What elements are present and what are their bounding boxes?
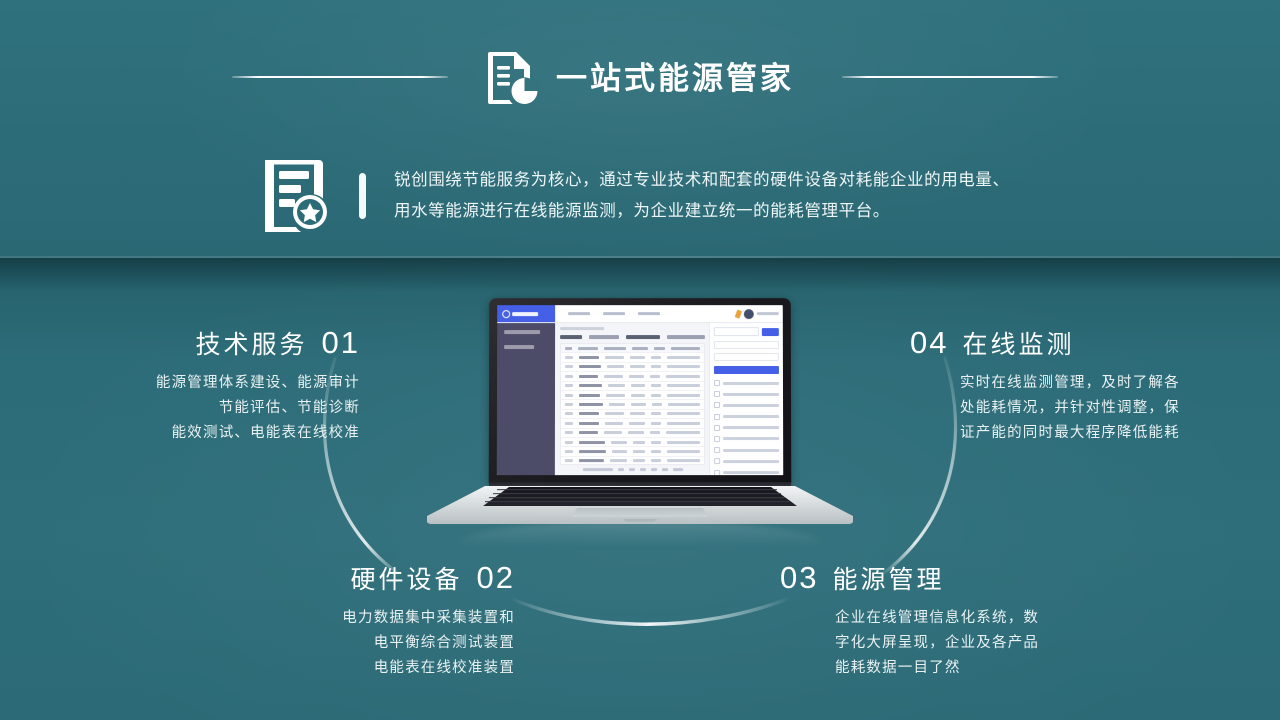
- feature-01-body: 能源管理体系建设、能源审计 节能评估、节能诊断 能效测试、电能表在线校准: [20, 371, 360, 446]
- search-row[interactable]: [714, 327, 779, 336]
- feature-block-01: 技术服务 01 能源管理体系建设、能源审计 节能评估、节能诊断 能效测试、电能表…: [20, 325, 360, 446]
- checkbox-item[interactable]: [714, 425, 779, 431]
- dashboard-main: [555, 323, 783, 475]
- feature-block-02: 硬件设备 02 电力数据集中采集装置和 电平衡综合测试装置 电能表在线校准装置: [175, 560, 515, 681]
- feature-03-line-2: 字化大屏呈现，企业及各产品: [835, 631, 1140, 656]
- filter-select[interactable]: [714, 353, 779, 361]
- description-block: 锐创围绕节能服务为核心，通过专业技术和配套的硬件设备对耗能企业的用电量、 用水等…: [265, 160, 1010, 232]
- feature-03-line-3: 能耗数据一目了然: [835, 656, 1140, 681]
- feature-04-name: 在线监测: [962, 325, 1074, 361]
- table-header-row: [561, 344, 704, 353]
- dashboard-logo: [497, 305, 555, 322]
- feature-04-line-2: 处能耗情况，并针对性调整，保: [960, 396, 1260, 421]
- feature-02-line-2: 电平衡综合测试装置: [175, 631, 515, 656]
- feature-02-heading: 硬件设备 02: [175, 560, 515, 596]
- feature-block-03: 03 能源管理 企业在线管理信息化系统，数 字化大屏呈现，企业及各产品 能耗数据…: [780, 560, 1140, 681]
- table-row[interactable]: [561, 419, 704, 428]
- search-input[interactable]: [714, 327, 759, 336]
- feature-01-line-3: 能效测试、电能表在线校准: [20, 421, 360, 446]
- feature-04-line-1: 实时在线监测管理，及时了解各: [960, 371, 1260, 396]
- table-row[interactable]: [561, 438, 704, 447]
- description-text: 锐创围绕节能服务为核心，通过专业技术和配套的硬件设备对耗能企业的用电量、 用水等…: [394, 165, 1010, 227]
- feature-03-number: 03: [780, 562, 818, 593]
- feature-03-line-1: 企业在线管理信息化系统，数: [835, 606, 1140, 631]
- dashboard-nav-item[interactable]: [638, 312, 660, 315]
- dashboard-nav-item[interactable]: [568, 312, 590, 315]
- avatar[interactable]: [744, 309, 754, 319]
- dashboard-nav-item[interactable]: [603, 312, 625, 315]
- header-title-group: 一站式能源管家: [0, 40, 1280, 116]
- search-button[interactable]: [762, 328, 779, 336]
- feature-block-04: 04 在线监测 实时在线监测管理，及时了解各 处能耗情况，并针对性调整，保 证产…: [910, 325, 1260, 446]
- slide-header: 一站式能源管家: [0, 40, 1280, 116]
- dashboard-side-panel: [709, 323, 783, 475]
- table-row[interactable]: [561, 353, 704, 362]
- feature-02-body: 电力数据集中采集装置和 电平衡综合测试装置 电能表在线校准装置: [175, 606, 515, 681]
- feature-01-number: 01: [322, 327, 360, 358]
- checkbox-item[interactable]: [714, 414, 779, 420]
- document-star-icon: [265, 160, 329, 232]
- breadcrumb: [560, 327, 604, 330]
- checkbox-item[interactable]: [714, 458, 779, 464]
- checkbox-item[interactable]: [714, 470, 779, 476]
- feature-02-number: 02: [477, 562, 515, 593]
- dashboard-content: [555, 323, 709, 475]
- table-row[interactable]: [561, 400, 704, 409]
- dashboard-user-area[interactable]: [736, 309, 783, 319]
- checkbox-item[interactable]: [714, 391, 779, 397]
- table-row[interactable]: [561, 410, 704, 419]
- filter-bar[interactable]: [560, 335, 705, 339]
- feature-01-heading: 技术服务 01: [20, 325, 360, 361]
- laptop-lid: [489, 298, 792, 484]
- data-table[interactable]: [560, 343, 705, 465]
- primary-action-button[interactable]: [714, 366, 779, 374]
- feature-02-name: 硬件设备: [351, 560, 463, 596]
- dashboard-topbar: [497, 305, 783, 323]
- document-chart-icon: [486, 50, 538, 106]
- feature-04-line-3: 证产能的同时最大程序降低能耗: [960, 421, 1260, 446]
- filter-select[interactable]: [714, 341, 779, 349]
- checkbox-item[interactable]: [714, 380, 779, 386]
- feature-01-line-1: 能源管理体系建设、能源审计: [20, 371, 360, 396]
- laptop-base: [427, 486, 853, 522]
- dashboard-screen: [497, 305, 783, 475]
- feature-04-body: 实时在线监测管理，及时了解各 处能耗情况，并针对性调整，保 证产能的同时最大程序…: [910, 371, 1260, 446]
- dashboard-nav[interactable]: [568, 312, 660, 315]
- pagination[interactable]: [560, 465, 705, 471]
- table-row[interactable]: [561, 429, 704, 438]
- table-row[interactable]: [561, 457, 704, 465]
- table-row[interactable]: [561, 363, 704, 372]
- slide-canvas: 一站式能源管家 锐创围绕节能服务为核心，通过专业技术和配套的硬件设备对耗能企业的…: [0, 0, 1280, 720]
- dashboard-sidebar[interactable]: [497, 323, 555, 475]
- table-row[interactable]: [561, 372, 704, 381]
- feature-03-body: 企业在线管理信息化系统，数 字化大屏呈现，企业及各产品 能耗数据一目了然: [780, 606, 1140, 681]
- table-row[interactable]: [561, 382, 704, 391]
- checkbox-item[interactable]: [714, 447, 779, 453]
- page-title: 一站式能源管家: [556, 63, 794, 94]
- feature-02-line-1: 电力数据集中采集装置和: [175, 606, 515, 631]
- feature-02-line-3: 电能表在线校准装置: [175, 656, 515, 681]
- feature-03-name: 能源管理: [832, 560, 944, 596]
- feature-03-heading: 03 能源管理: [780, 560, 1140, 596]
- table-row[interactable]: [561, 391, 704, 400]
- user-name: [757, 312, 779, 315]
- table-row[interactable]: [561, 447, 704, 456]
- sidebar-item[interactable]: [504, 345, 534, 349]
- laptop-mockup: [427, 298, 853, 528]
- description-line-1: 锐创围绕节能服务为核心，通过专业技术和配套的硬件设备对耗能企业的用电量、: [394, 165, 1010, 196]
- checkbox-item[interactable]: [714, 436, 779, 442]
- feature-04-heading: 04 在线监测: [910, 325, 1260, 361]
- description-separator-bar: [359, 173, 366, 219]
- pencil-icon[interactable]: [735, 309, 742, 318]
- feature-04-number: 04: [910, 327, 948, 358]
- description-line-2: 用水等能源进行在线能源监测，为企业建立统一的能耗管理平台。: [394, 196, 1010, 227]
- checkbox-item[interactable]: [714, 402, 779, 408]
- feature-01-line-2: 节能评估、节能诊断: [20, 396, 360, 421]
- feature-01-name: 技术服务: [196, 325, 308, 361]
- sidebar-item[interactable]: [504, 330, 540, 334]
- dashboard-body: [497, 323, 783, 475]
